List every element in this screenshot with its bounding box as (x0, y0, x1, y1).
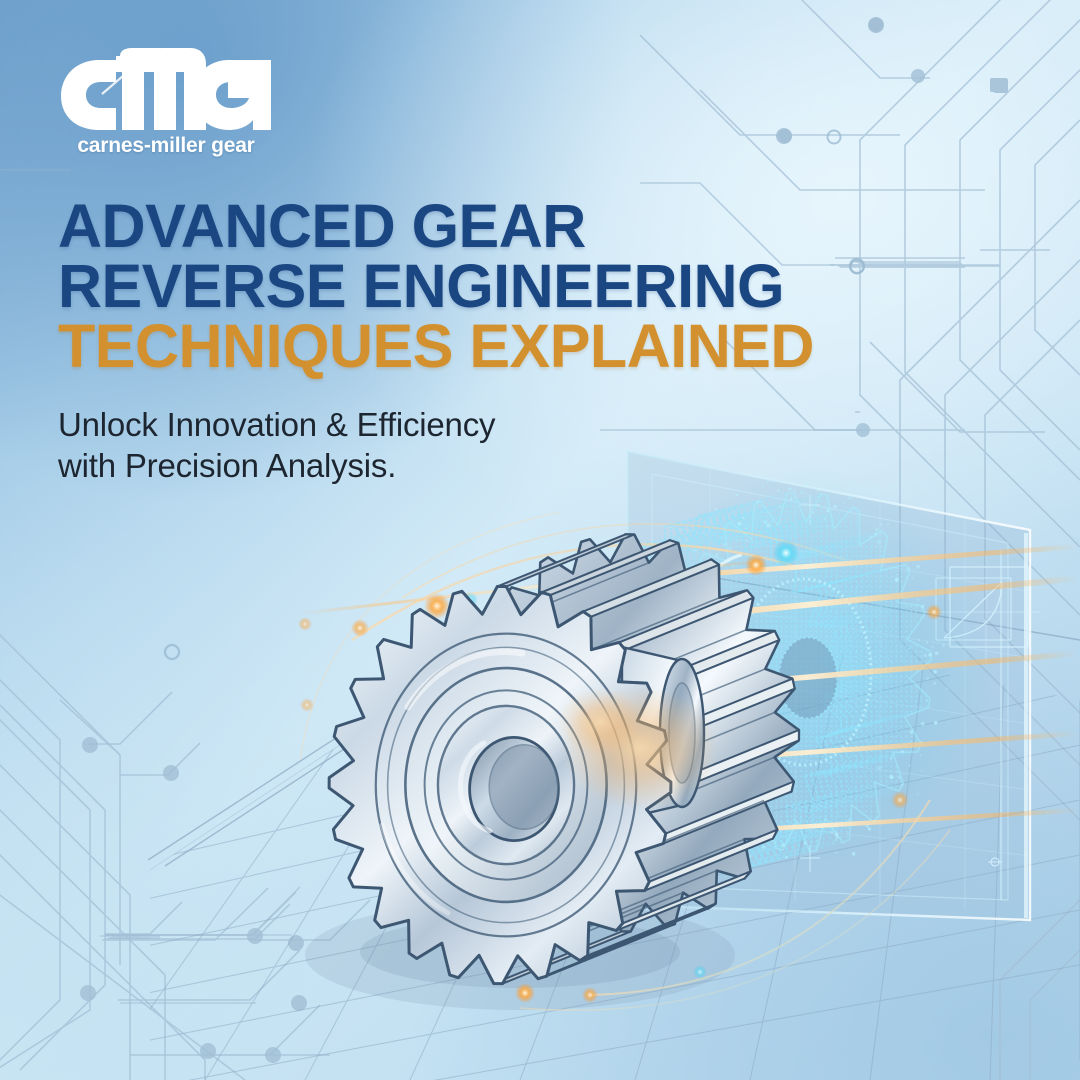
cmg-monogram-icon (58, 48, 274, 130)
headline-line-2: REVERSE ENGINEERING (58, 256, 938, 316)
scan-beams-icon (0, 0, 1080, 1080)
digital-gear-icon (0, 0, 1080, 1080)
headline-line-3: TECHNIQUES EXPLAINED (58, 316, 938, 376)
circuit-pattern-icon (0, 0, 1080, 1080)
subtitle: Unlock Innovation & Efficiency with Prec… (58, 404, 678, 486)
scan-panel-icon (0, 0, 1080, 1080)
cad-curve-detail-box (925, 556, 1040, 664)
page-title: ADVANCED GEAR REVERSE ENGINEERING TECHNI… (58, 196, 938, 376)
subtitle-line-1: Unlock Innovation & Efficiency (58, 404, 678, 445)
physical-gear-icon (0, 0, 1080, 1080)
headline-line-1: ADVANCED GEAR (58, 196, 938, 256)
brand-tagline: carnes-miller gear (58, 134, 274, 158)
subtitle-line-2: with Precision Analysis. (58, 445, 678, 486)
brand-logo[interactable]: carnes-miller gear (58, 48, 288, 158)
poster-canvas: carnes-miller gear ADVANCED GEAR REVERSE… (0, 0, 1080, 1080)
grid-floor-icon (0, 0, 1080, 1080)
